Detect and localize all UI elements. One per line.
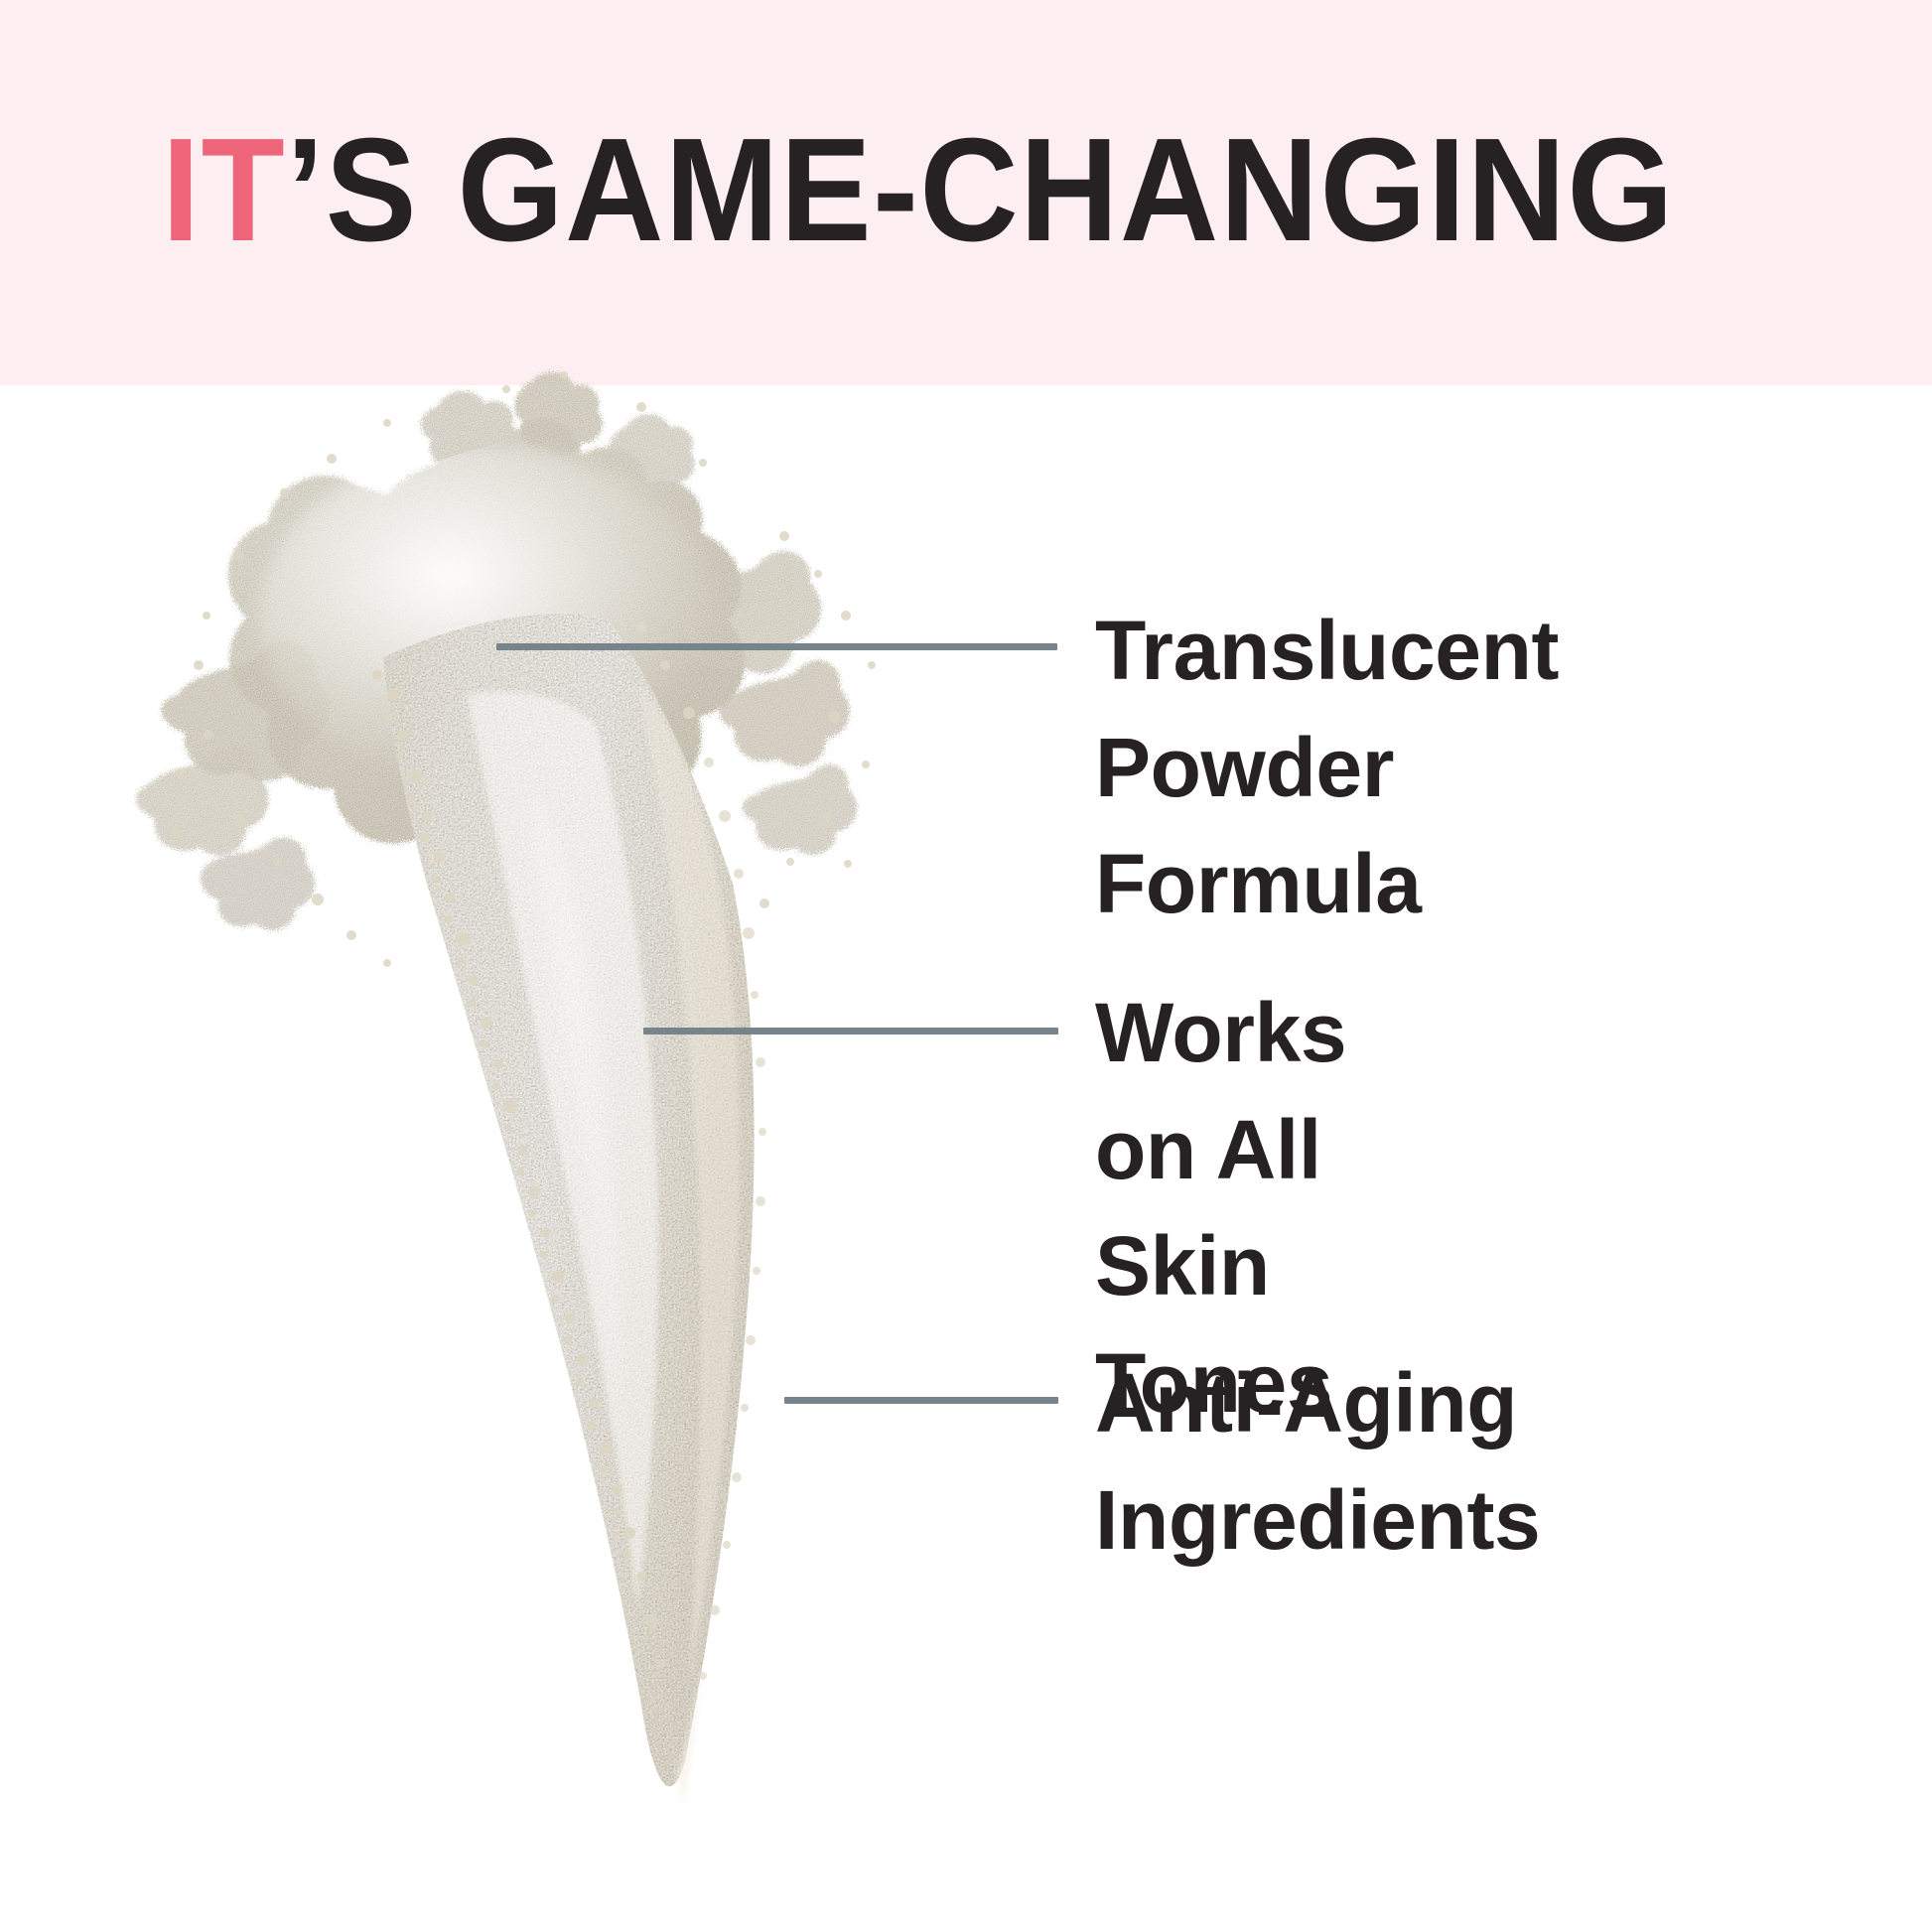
page-title-rest: ’S GAME-CHANGING	[286, 108, 1675, 272]
callout-leader-line-1	[496, 643, 1057, 650]
powder-swatch-graphic	[89, 367, 923, 1857]
infographic-canvas: IT’S GAME-CHANGING	[0, 0, 1932, 1932]
powder-swatch-image	[89, 367, 923, 1857]
callout-leader-line-2	[643, 1028, 1058, 1035]
header-banner: IT’S GAME-CHANGING	[0, 0, 1932, 385]
callout-label-1: Translucent Powder Formula	[1095, 593, 1559, 943]
page-title: IT’S GAME-CHANGING	[162, 117, 1675, 264]
powder-smear-swatch	[372, 614, 766, 1809]
callout-label-3: Anti-Aging Ingredients	[1095, 1345, 1540, 1579]
callout-leader-line-3	[784, 1397, 1058, 1404]
page-title-accent: IT	[162, 108, 286, 272]
